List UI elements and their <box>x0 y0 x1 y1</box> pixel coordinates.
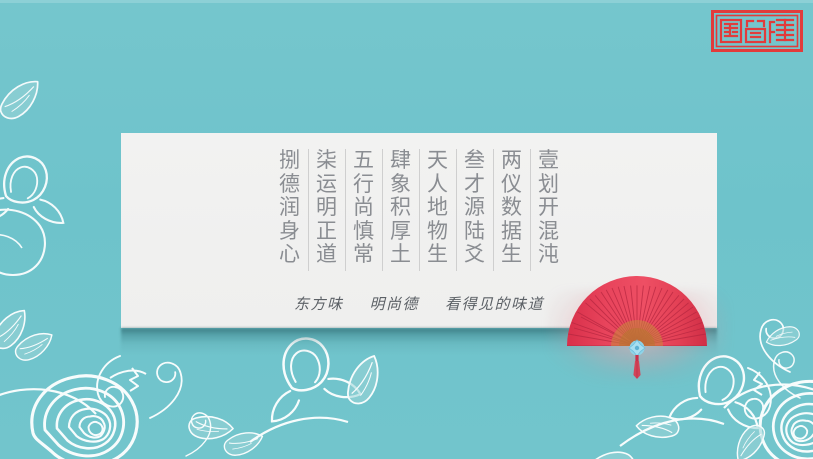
couplet-char: 道 <box>316 243 337 267</box>
couplet-char: 土 <box>390 243 411 267</box>
couplet-column-1: 壹 划 开 混 沌 <box>530 147 567 267</box>
couplet-char: 厚 <box>390 220 411 244</box>
couplet-char: 象 <box>390 173 411 197</box>
couplet-column-8: 捌 德 润 身 心 <box>271 147 308 267</box>
couplet-char: 德 <box>279 173 300 197</box>
couplet-char: 叁 <box>464 149 485 173</box>
couplet-column-5: 肆 象 积 厚 土 <box>382 147 419 267</box>
couplet-char: 仪 <box>501 173 522 197</box>
couplet-char: 柒 <box>316 149 337 173</box>
couplet-column-7: 柒 运 明 正 道 <box>308 147 345 267</box>
fan-glow <box>548 290 728 382</box>
couplet-char: 地 <box>427 196 448 220</box>
couplet-column-4: 天 人 地 物 生 <box>419 147 456 267</box>
couplet-char: 积 <box>390 196 411 220</box>
couplet-char: 天 <box>427 149 448 173</box>
couplet-char: 爻 <box>464 243 485 267</box>
couplet-char: 才 <box>464 173 485 197</box>
seal-icon <box>711 10 803 52</box>
couplet-char: 正 <box>316 220 337 244</box>
couplet-char: 陆 <box>464 220 485 244</box>
couplet-char: 源 <box>464 196 485 220</box>
couplet-char: 捌 <box>279 149 300 173</box>
couplet-char: 壹 <box>538 149 559 173</box>
couplet-char: 行 <box>353 173 374 197</box>
couplet-char: 数 <box>501 196 522 220</box>
slogan-segment-3: 看得见的味道 <box>445 293 544 314</box>
top-edge-highlight <box>0 0 813 3</box>
couplet-char: 润 <box>279 196 300 220</box>
couplet-char: 物 <box>427 220 448 244</box>
slogan-segment-1: 东方味 <box>294 293 344 314</box>
ming-shang-de-seal <box>711 10 803 52</box>
couplet-char: 五 <box>353 149 374 173</box>
couplet-char: 肆 <box>390 149 411 173</box>
couplet-char: 生 <box>501 243 522 267</box>
couplet-char: 人 <box>427 173 448 197</box>
slogan-segment-2: 明尚德 <box>369 293 419 314</box>
couplet-char: 划 <box>538 173 559 197</box>
couplet-char: 心 <box>279 243 300 267</box>
couplet-char: 运 <box>316 173 337 197</box>
couplet-char: 沌 <box>538 243 559 267</box>
vertical-couplet: 壹 划 开 混 沌 两 仪 数 据 生 叁 才 源 陆 爻 天 <box>121 147 717 277</box>
couplet-column-6: 五 行 尚 慎 常 <box>345 147 382 267</box>
couplet-column-2: 两 仪 数 据 生 <box>493 147 530 267</box>
couplet-char: 混 <box>538 220 559 244</box>
slide-canvas: 壹 划 开 混 沌 两 仪 数 据 生 叁 才 源 陆 爻 天 <box>0 0 813 459</box>
couplet-char: 明 <box>316 196 337 220</box>
couplet-char: 尚 <box>353 196 374 220</box>
couplet-char: 身 <box>279 220 300 244</box>
couplet-char: 常 <box>353 243 374 267</box>
couplet-column-3: 叁 才 源 陆 爻 <box>456 147 493 267</box>
couplet-char: 生 <box>427 243 448 267</box>
couplet-char: 两 <box>501 149 522 173</box>
couplet-char: 据 <box>501 220 522 244</box>
couplet-char: 慎 <box>353 220 374 244</box>
couplet-char: 开 <box>538 196 559 220</box>
